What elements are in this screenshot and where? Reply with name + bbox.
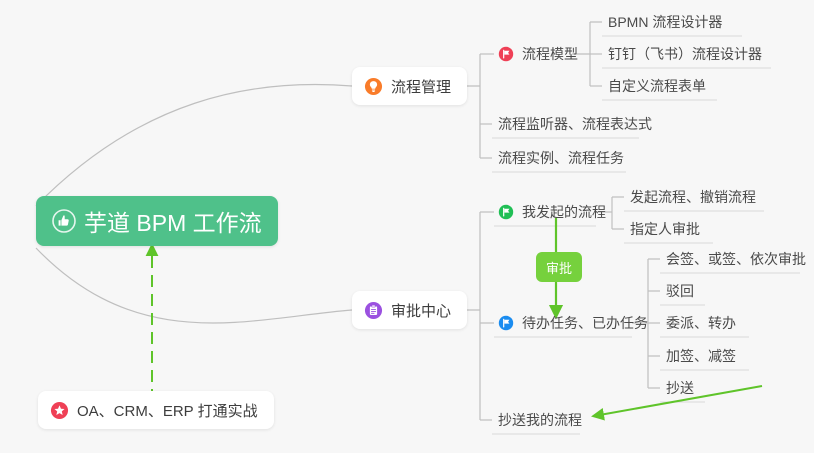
node-reject-label: 驳回 [666, 281, 694, 301]
lightbulb-icon [364, 77, 383, 96]
node-add-remove-sign[interactable]: 加签、减签 [660, 341, 746, 371]
node-todo-done-task[interactable]: 待办任务、已办任务 [494, 308, 658, 338]
thumbs-up-icon [52, 209, 76, 233]
node-cc-to-me-process-label: 抄送我的流程 [498, 410, 582, 430]
flag-icon [498, 204, 514, 220]
node-instance-task[interactable]: 流程实例、流程任务 [492, 143, 634, 173]
mindmap-canvas: 芋道 BPM 工作流 流程管理 流程模型 BPMN 流程设计器 钉钉（飞书）流程… [0, 0, 814, 453]
link-root-to-approval-center [36, 248, 352, 323]
node-assignee-approval[interactable]: 指定人审批 [624, 214, 710, 244]
node-instance-task-label: 流程实例、流程任务 [498, 148, 624, 168]
node-integration-practice[interactable]: OA、CRM、ERP 打通实战 [38, 391, 274, 429]
node-dingtalk-feishu-designer-label: 钉钉（飞书）流程设计器 [608, 44, 762, 64]
approval-badge-label: 审批 [546, 258, 572, 277]
node-process-model[interactable]: 流程模型 [494, 39, 588, 69]
node-carbon-copy-label: 抄送 [666, 378, 694, 398]
node-todo-done-task-label: 待办任务、已办任务 [522, 313, 648, 333]
node-custom-process-form[interactable]: 自定义流程表单 [602, 71, 716, 101]
node-cc-to-me-process[interactable]: 抄送我的流程 [492, 405, 592, 435]
node-carbon-copy[interactable]: 抄送 [660, 373, 704, 403]
node-my-started-process[interactable]: 我发起的流程 [494, 197, 616, 227]
branch-process-management-label: 流程管理 [391, 76, 451, 97]
flag-icon [498, 315, 514, 331]
flag-icon [498, 46, 514, 62]
branch-approval-center-label: 审批中心 [391, 300, 451, 321]
clipboard-icon [364, 301, 383, 320]
node-listener-expression-label: 流程监听器、流程表达式 [498, 114, 652, 134]
node-bpmn-designer[interactable]: BPMN 流程设计器 [602, 7, 732, 37]
node-countersign-label: 会签、或签、依次审批 [666, 249, 806, 269]
node-delegate-transfer[interactable]: 委派、转办 [660, 308, 746, 338]
root-node-label: 芋道 BPM 工作流 [84, 204, 262, 238]
node-delegate-transfer-label: 委派、转办 [666, 313, 736, 333]
node-dingtalk-feishu-designer[interactable]: 钉钉（飞书）流程设计器 [602, 39, 772, 69]
branch-approval-center[interactable]: 审批中心 [352, 291, 467, 329]
node-add-remove-sign-label: 加签、减签 [666, 346, 736, 366]
root-node[interactable]: 芋道 BPM 工作流 [36, 196, 278, 246]
link-root-to-process-management [36, 85, 352, 206]
node-process-model-label: 流程模型 [522, 44, 578, 64]
node-listener-expression[interactable]: 流程监听器、流程表达式 [492, 109, 662, 139]
node-assignee-approval-label: 指定人审批 [630, 219, 700, 239]
star-icon [50, 401, 69, 420]
node-start-cancel-process-label: 发起流程、撤销流程 [630, 187, 756, 207]
node-my-started-process-label: 我发起的流程 [522, 202, 606, 222]
branch-process-management[interactable]: 流程管理 [352, 67, 467, 105]
node-start-cancel-process[interactable]: 发起流程、撤销流程 [624, 182, 766, 212]
approval-badge[interactable]: 审批 [536, 252, 582, 282]
node-bpmn-designer-label: BPMN 流程设计器 [608, 12, 722, 32]
node-reject[interactable]: 驳回 [660, 276, 704, 306]
node-integration-practice-label: OA、CRM、ERP 打通实战 [77, 400, 258, 421]
node-countersign[interactable]: 会签、或签、依次审批 [660, 244, 814, 274]
node-custom-process-form-label: 自定义流程表单 [608, 76, 706, 96]
